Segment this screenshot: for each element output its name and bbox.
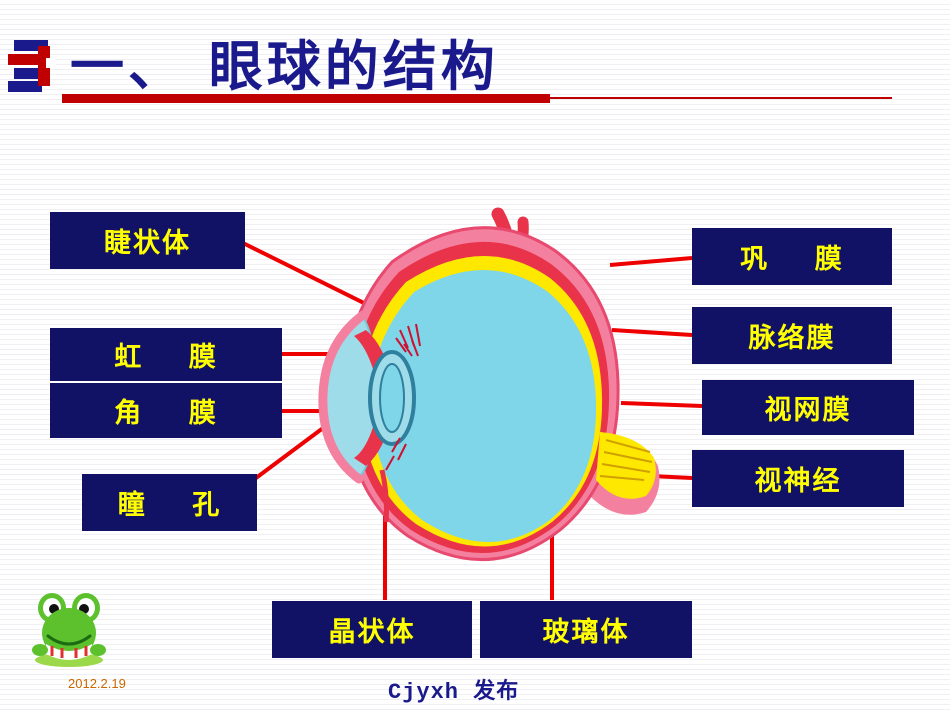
label-pupil[interactable]: 瞳 孔	[82, 474, 257, 531]
label-lens[interactable]: 晶状体	[272, 601, 472, 658]
label-ciliary-body[interactable]: 睫状体	[50, 212, 245, 269]
frog-mascot-icon	[30, 588, 108, 668]
label-optic-nerve[interactable]: 视神经	[692, 450, 904, 507]
label-sclera[interactable]: 巩 膜	[692, 228, 892, 285]
eye-cross-section	[323, 214, 660, 560]
date-text: 2012.2.19	[68, 676, 126, 691]
label-iris[interactable]: 虹 膜	[50, 328, 282, 381]
slide-canvas: 一、 眼球的结构	[0, 0, 950, 713]
publisher-text: Cjyxh 发布	[388, 673, 519, 705]
label-choroid[interactable]: 脉络膜	[692, 307, 892, 364]
label-retina[interactable]: 视网膜	[702, 380, 914, 435]
label-cornea[interactable]: 角 膜	[50, 383, 282, 438]
label-vitreous-body[interactable]: 玻璃体	[480, 601, 692, 658]
